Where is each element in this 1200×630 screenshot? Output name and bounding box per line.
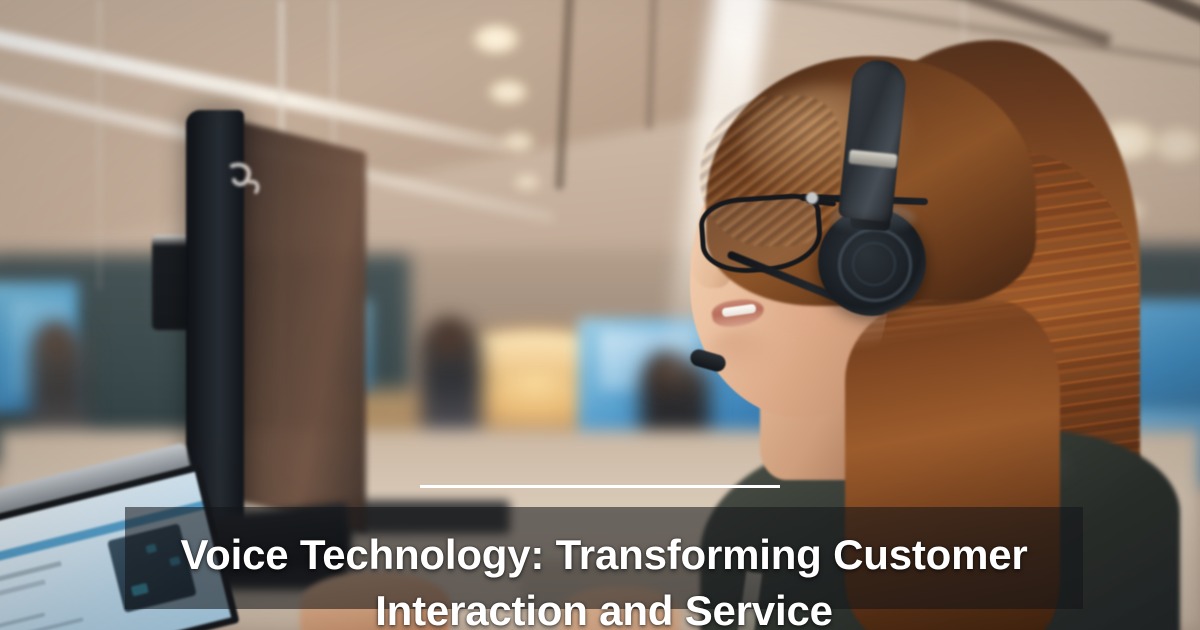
hero-banner: Voice Technology: Transforming Customer … [0,0,1200,630]
eyeglasses-hinge [806,192,818,204]
headset-earcup-ring-inner [852,242,896,286]
title-divider-rule [420,485,780,488]
page-title: Voice Technology: Transforming Customer … [125,527,1083,630]
